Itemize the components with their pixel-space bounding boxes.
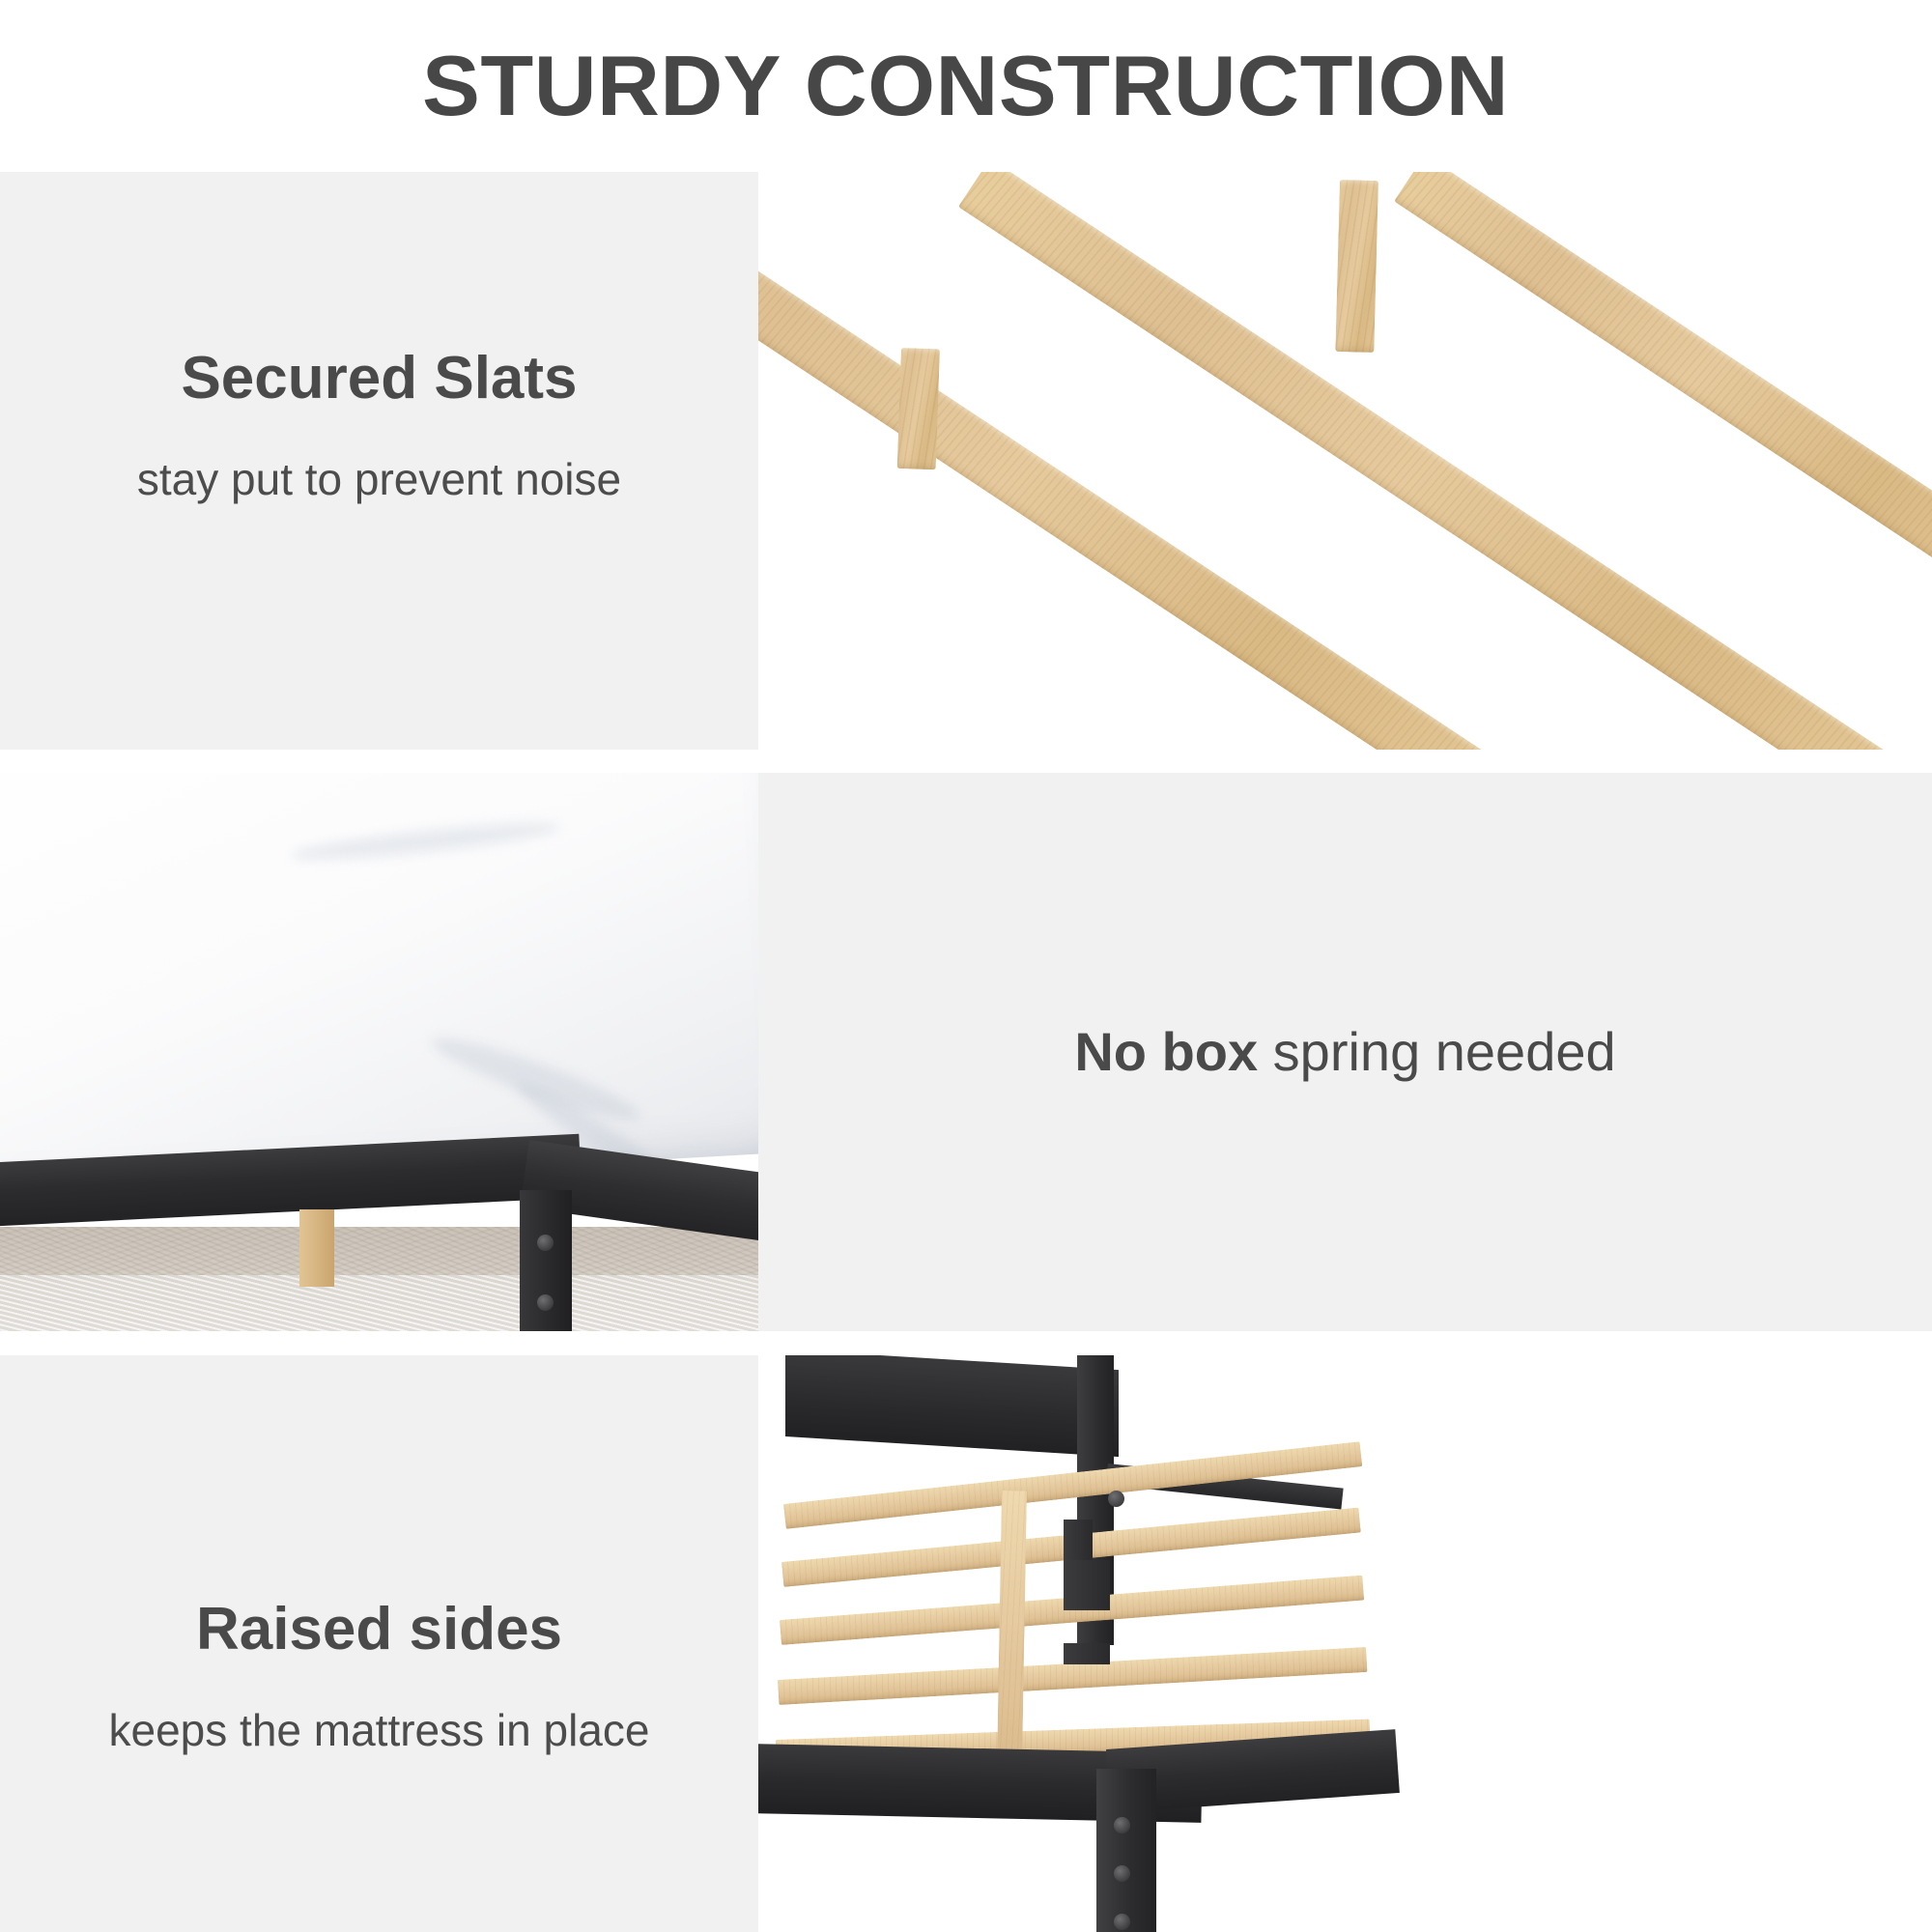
frame-center-support bbox=[997, 1491, 1027, 1780]
page-header: STURDY CONSTRUCTION bbox=[0, 0, 1932, 172]
no-box-spring-image bbox=[0, 773, 758, 1331]
frame-screw-1 bbox=[537, 1235, 554, 1251]
wooden-center-support bbox=[299, 1209, 334, 1287]
foot-corner-post bbox=[1096, 1769, 1156, 1932]
frame-screw-2 bbox=[537, 1294, 554, 1311]
secured-slats-title: Secured Slats bbox=[181, 346, 577, 412]
infographic-page: STURDY CONSTRUCTION Secured Slats stay p… bbox=[0, 0, 1932, 1932]
no-box-spring-textblock: No box spring needed bbox=[758, 773, 1932, 1331]
foot-post-screw-1 bbox=[1114, 1817, 1130, 1833]
page-title: STURDY CONSTRUCTION bbox=[422, 43, 1509, 128]
raised-sides-image bbox=[758, 1355, 1932, 1932]
no-box-spring-headline-light: spring needed bbox=[1258, 1021, 1616, 1082]
no-box-spring-headline: No box spring needed bbox=[1074, 1019, 1615, 1084]
wood-slat-2 bbox=[958, 172, 1900, 750]
secured-slats-image bbox=[758, 172, 1932, 750]
raised-sides-text-panel: Raised sides keeps the mattress in place bbox=[0, 1355, 758, 1932]
feature-row-no-box-spring: No box spring needed bbox=[0, 773, 1932, 1331]
foot-post-screw-2 bbox=[1114, 1865, 1130, 1882]
secured-slats-subtitle: stay put to prevent noise bbox=[137, 452, 621, 508]
foot-post-screw-3 bbox=[1114, 1914, 1130, 1930]
raised-sides-title: Raised sides bbox=[196, 1597, 562, 1662]
no-box-spring-text-panel: No box spring needed bbox=[758, 773, 1932, 1331]
inner-frame-post-2 bbox=[1064, 1560, 1110, 1610]
headboard-panel bbox=[785, 1355, 1119, 1457]
secured-slats-text-panel: Secured Slats stay put to prevent noise bbox=[0, 172, 758, 750]
bed-corner-photo bbox=[0, 773, 758, 1331]
feature-row-raised-sides: Raised sides keeps the mattress in place bbox=[0, 1355, 1932, 1932]
secured-slats-textblock: Secured Slats stay put to prevent noise bbox=[0, 346, 758, 508]
wood-slat-1-notch bbox=[897, 348, 940, 469]
inner-frame-post-3 bbox=[1064, 1643, 1110, 1664]
wooden-slats-illustration bbox=[758, 172, 1932, 750]
feature-row-secured-slats: Secured Slats stay put to prevent noise bbox=[0, 172, 1932, 750]
raised-sides-subtitle: keeps the mattress in place bbox=[109, 1703, 650, 1759]
floor-rug bbox=[0, 1275, 758, 1331]
wood-slat-3-notch bbox=[1335, 180, 1378, 353]
no-box-spring-headline-strong: No box bbox=[1074, 1021, 1258, 1082]
far-rail-screw bbox=[1108, 1491, 1124, 1507]
bed-frame-photo bbox=[758, 1355, 1932, 1932]
raised-sides-textblock: Raised sides keeps the mattress in place bbox=[0, 1597, 758, 1759]
inner-frame-post-1 bbox=[1064, 1520, 1093, 1563]
